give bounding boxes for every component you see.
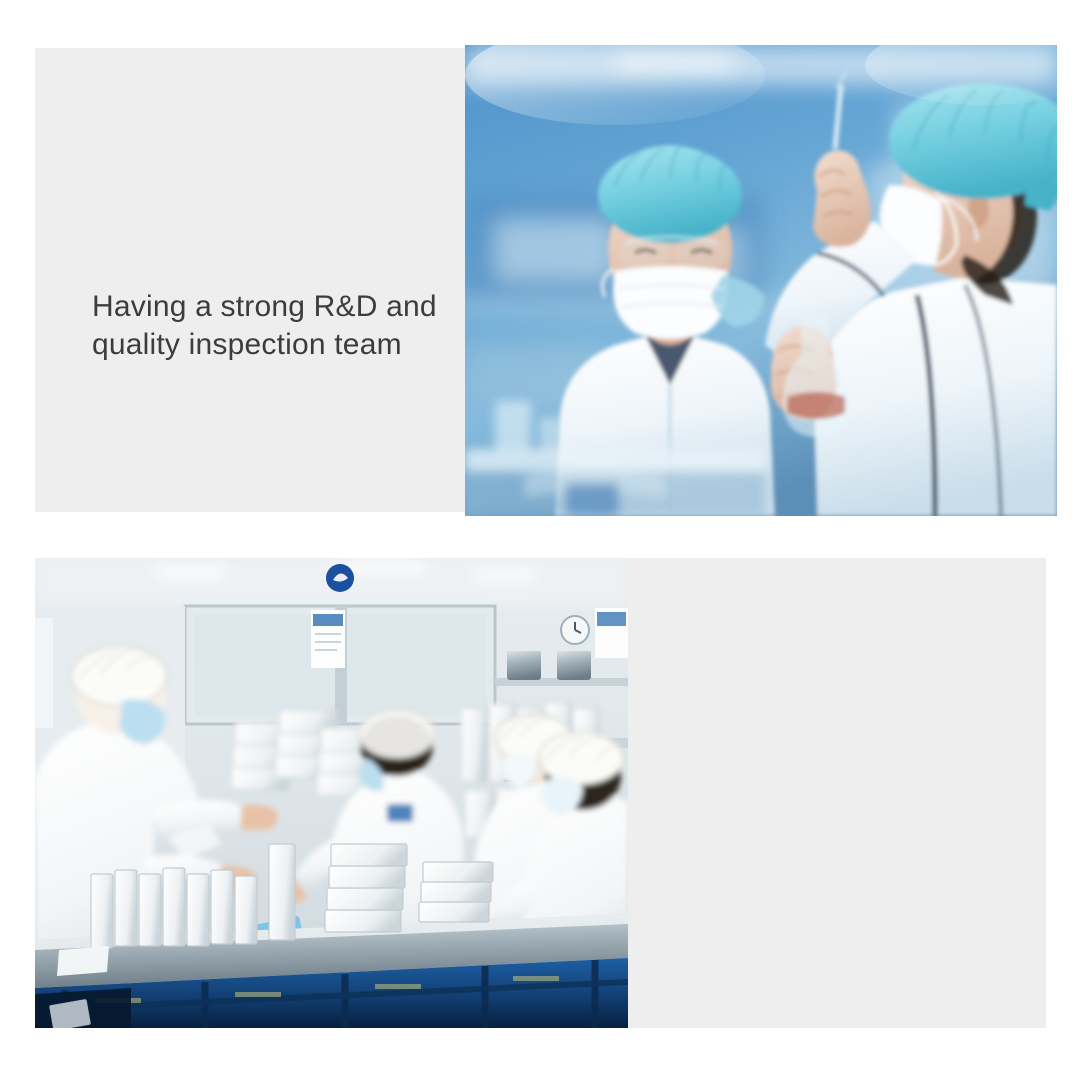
caption-panel-top: Having a strong R&D and quality inspecti… bbox=[35, 48, 467, 512]
section-rnd-quality: Having a strong R&D and quality inspecti… bbox=[0, 0, 1080, 540]
lab-technicians-photo bbox=[465, 45, 1057, 516]
packaging-workers-illustration bbox=[35, 558, 628, 1028]
caption-panel-bottom: a warehouse distribution area a warehous… bbox=[600, 558, 1046, 1028]
packaging-workers-photo bbox=[35, 558, 628, 1028]
lab-technicians-illustration bbox=[465, 45, 1057, 516]
caption-rnd-quality: Having a strong R&D and quality inspecti… bbox=[92, 288, 492, 365]
section-warehouse: a warehouse distribution area a warehous… bbox=[0, 540, 1080, 1080]
